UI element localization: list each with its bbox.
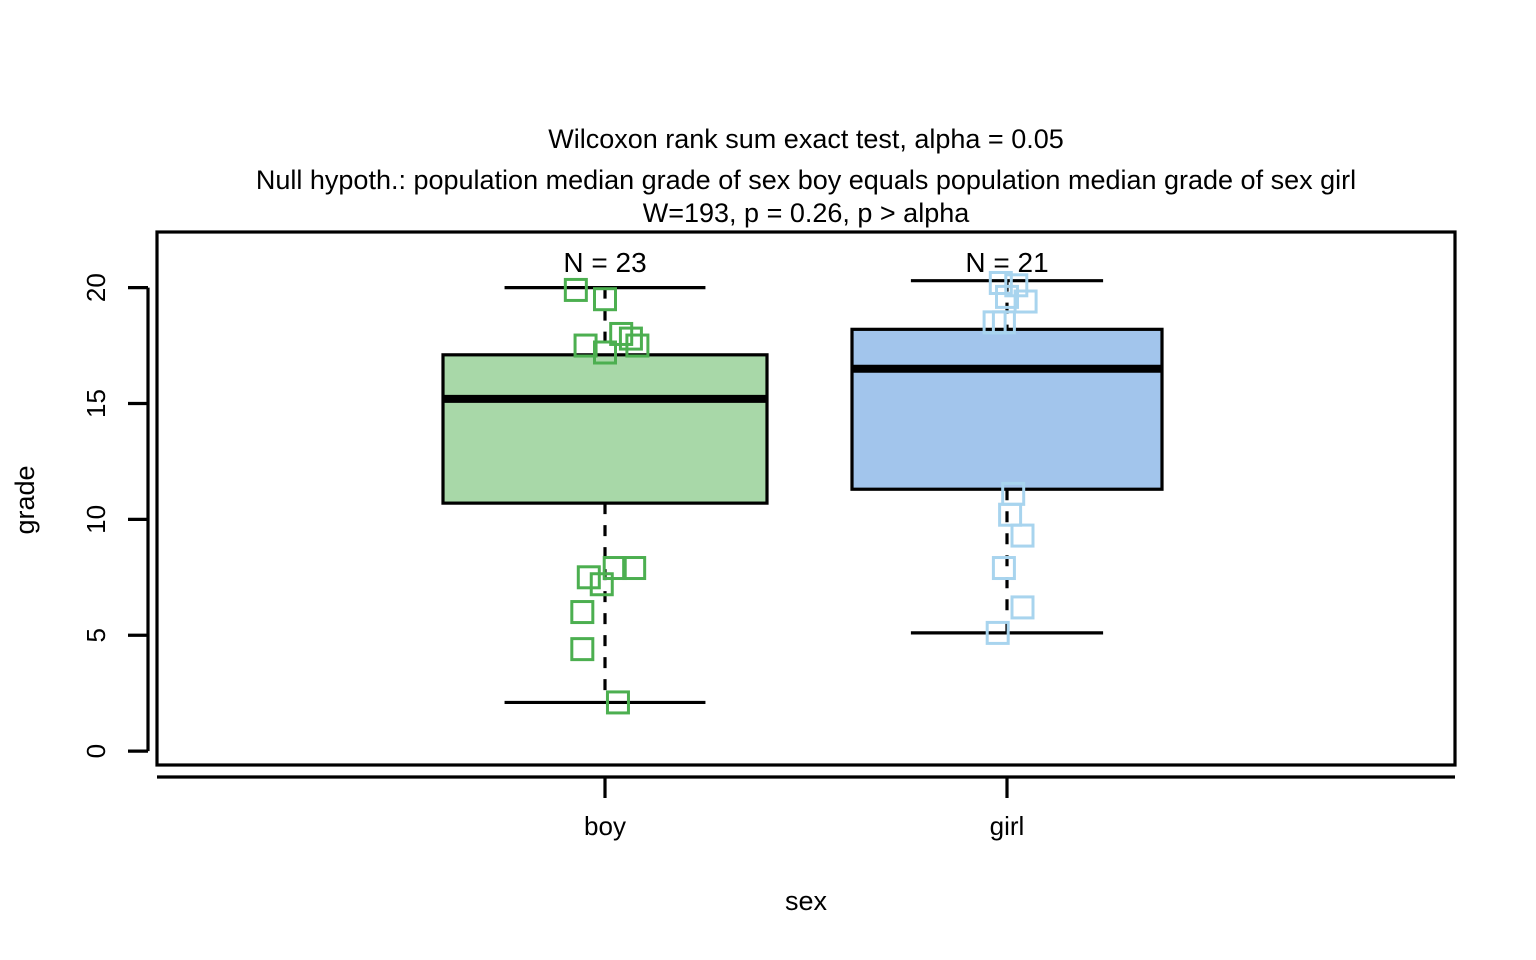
box-girl (852, 329, 1162, 489)
x-axis: boygirl (157, 777, 1455, 841)
data-point (604, 558, 625, 579)
data-point (1012, 597, 1033, 618)
data-point (572, 602, 593, 623)
sample-size-label-boy: N = 23 (563, 247, 646, 278)
chart-title-line-3: W=193, p = 0.26, p > alpha (643, 198, 970, 228)
x-axis-tick-label-girl: girl (990, 811, 1025, 841)
box-groups: N = 23N = 21 (443, 247, 1162, 713)
plot-canvas: Wilcoxon rank sum exact test, alpha = 0.… (0, 0, 1536, 960)
data-point (565, 279, 586, 300)
y-axis-tick-label: 0 (81, 744, 111, 758)
x-axis-tick-label-boy: boy (584, 811, 626, 841)
data-point (1000, 504, 1021, 525)
boxplot-girl: N = 21 (852, 247, 1162, 643)
y-axis-tick-label: 10 (81, 505, 111, 534)
box-boy (443, 355, 767, 503)
y-axis-title: grade (10, 465, 40, 534)
data-point (1012, 525, 1033, 546)
y-axis-tick-label: 20 (81, 273, 111, 302)
y-axis-tick-label: 15 (81, 389, 111, 418)
x-axis-title: sex (785, 886, 828, 916)
data-point (572, 639, 593, 660)
data-point (575, 335, 596, 356)
boxplot-boy: N = 23 (443, 247, 767, 713)
data-point (591, 574, 612, 595)
sample-size-label-girl: N = 21 (965, 247, 1048, 278)
chart-title-line-1: Wilcoxon rank sum exact test, alpha = 0.… (548, 124, 1064, 154)
chart-title-line-2: Null hypoth.: population median grade of… (256, 165, 1356, 195)
data-point (624, 558, 645, 579)
y-axis-tick-label: 5 (81, 628, 111, 642)
data-point (578, 567, 599, 588)
boxplot-figure: Wilcoxon rank sum exact test, alpha = 0.… (0, 0, 1536, 960)
data-point (993, 558, 1014, 579)
plot-frame (157, 232, 1455, 765)
y-axis: 05101520 (81, 273, 148, 758)
